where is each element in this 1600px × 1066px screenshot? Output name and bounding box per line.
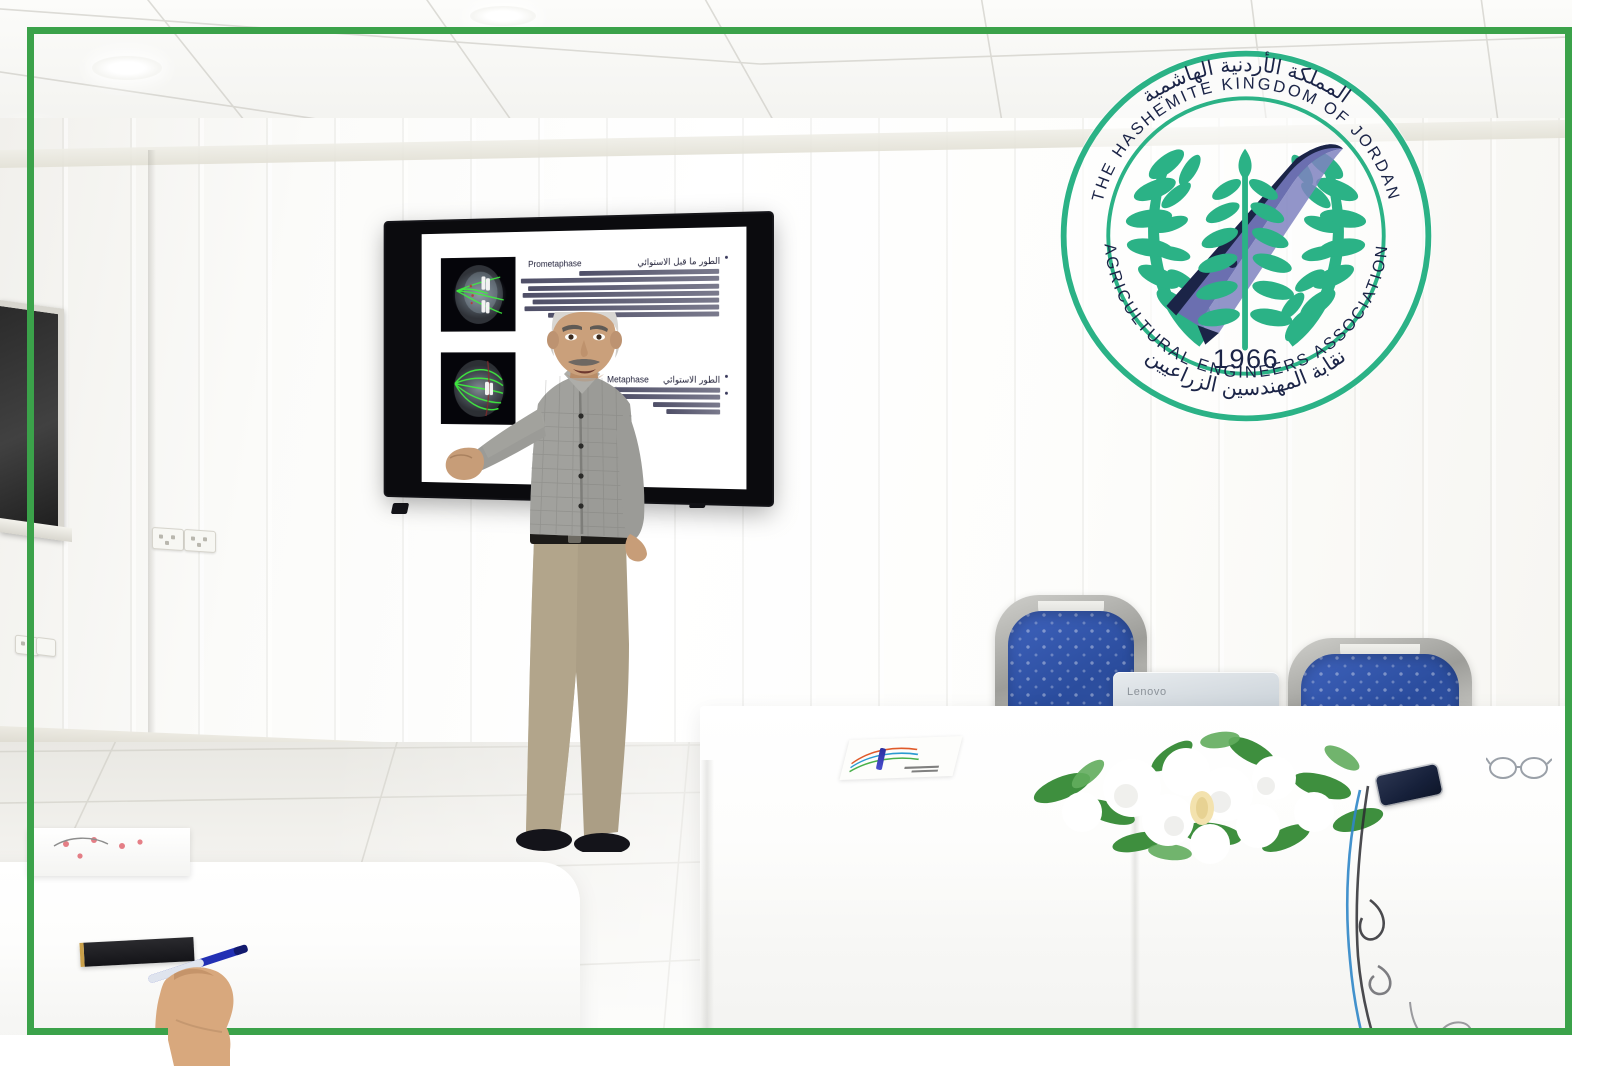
slide-body-line [521,276,719,284]
slide-body-line [529,283,720,290]
association-seal-svg: المملكة الأردنية الهاشمية THE HASHEMITE … [1052,42,1440,430]
recessed-ceiling-light-2 [470,6,536,26]
tv-stand-left [391,503,409,514]
slide-body-line [579,269,719,276]
logo-year: 1966 [1213,343,1279,374]
wall-corner-shadow [148,150,156,790]
slide-bullet-1 [725,256,728,259]
presenter-figure [430,312,690,852]
frame-mat-right [1572,0,1600,1066]
agricultural-engineers-association-logo: المملكة الأردنية الهاشمية THE HASHEMITE … [1052,42,1440,430]
slide-bullet-2 [725,375,728,378]
recessed-ceiling-light-1 [92,56,162,80]
hand-overlapping-frame [160,1000,280,1066]
eyeglasses [1486,752,1552,786]
slide-body-line [532,298,719,305]
wall-power-outlet-4 [36,637,56,657]
wall-power-outlet-1 [152,527,184,551]
paper-stack-marks [28,828,190,876]
document-content [839,736,962,780]
slide-bullet-3 [725,392,728,395]
slide-body-line [525,305,719,312]
window [0,300,64,541]
slide-body-line [523,290,719,297]
laptop-brand-label: Lenovo [1127,686,1167,698]
presenter [430,312,690,852]
tablecloth-fold [700,760,714,1040]
slide-heading-1-english: Prometaphase [528,258,581,269]
wall-power-outlet-2 [184,529,216,553]
photograph: الطور ما قبل الاستوائي Prometaphase الطو… [0,0,1600,1066]
